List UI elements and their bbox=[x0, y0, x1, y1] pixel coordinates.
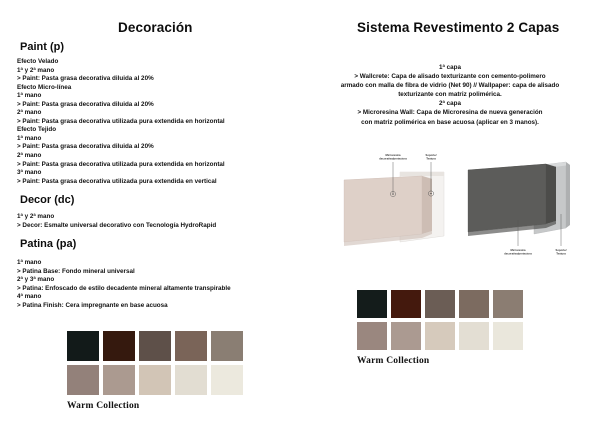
text-line: 4ª mano bbox=[17, 293, 231, 302]
section-heading-patina: Patina (pa) bbox=[20, 238, 76, 250]
color-swatch[interactable] bbox=[67, 365, 99, 395]
right-column-body: 1ª capa > Wallcrete: Capa de alisado tex… bbox=[300, 63, 600, 127]
text-line: > Patina Base: Fondo mineral universal bbox=[17, 268, 231, 277]
text-line: > Paint: Pasta grasa decorativa diluida … bbox=[17, 101, 225, 110]
text-line: con matriz polimérica en base acuosa (ap… bbox=[300, 118, 600, 127]
panel-dark-label-support-2: Textura bbox=[556, 251, 566, 255]
text-line: Efecto Micro-línea bbox=[17, 84, 225, 93]
text-line: texturizante con matriz polimérica. bbox=[300, 90, 600, 99]
section-heading-decor: Decor (dc) bbox=[20, 194, 74, 206]
color-swatch[interactable] bbox=[139, 331, 171, 361]
palette-row bbox=[67, 365, 243, 395]
text-line: 1ª y 2ª mano bbox=[17, 67, 225, 76]
color-swatch[interactable] bbox=[391, 322, 421, 350]
text-line: > Patina Finish: Cera impregnante en bas… bbox=[17, 302, 231, 311]
panel-light-label-layer-2: decorativa/protectora bbox=[379, 156, 407, 160]
palette-row bbox=[357, 322, 523, 350]
text-line: > Paint: Pasta grasa decorativa diluida … bbox=[17, 143, 225, 152]
text-line: 1ª capa bbox=[300, 63, 600, 72]
text-line: > Decor: Esmalte universal decorativo co… bbox=[17, 222, 216, 231]
color-swatch[interactable] bbox=[459, 290, 489, 318]
panel-light-label-layer: Microresina bbox=[385, 153, 401, 157]
panel-illustration-light: Microresina decorativa/protectora Soport… bbox=[340, 150, 465, 250]
text-line: > Microresina Wall: Capa de Microresina … bbox=[300, 108, 600, 117]
color-swatch[interactable] bbox=[425, 290, 455, 318]
section-body-decor: 1ª y 2ª mano > Decor: Esmalte universal … bbox=[17, 213, 216, 230]
text-line: 1ª mano bbox=[17, 259, 231, 268]
color-palette-left: Warm Collection bbox=[67, 331, 243, 411]
section-heading-paint: Paint (p) bbox=[20, 41, 64, 53]
color-swatch[interactable] bbox=[175, 365, 207, 395]
color-swatch[interactable] bbox=[357, 290, 387, 318]
text-line: 1ª y 2ª mano bbox=[17, 213, 216, 222]
poster-canvas: Decoración Paint (p) Efecto Velado 1ª y … bbox=[0, 0, 600, 424]
text-line: > Wallcrete: Capa de alisado texturizant… bbox=[300, 72, 600, 81]
color-swatch[interactable] bbox=[103, 365, 135, 395]
text-line: > Paint: Pasta grasa decorativa utilizad… bbox=[17, 161, 225, 170]
color-swatch[interactable] bbox=[211, 365, 243, 395]
text-line: > Paint: Pasta grasa decorativa utilizad… bbox=[17, 178, 225, 187]
right-column-title: Sistema Revestimento 2 Capas bbox=[357, 20, 559, 35]
text-line: Efecto Tejido bbox=[17, 126, 225, 135]
text-line: 2ª capa bbox=[300, 99, 600, 108]
text-line: Efecto Velado bbox=[17, 58, 225, 67]
color-swatch[interactable] bbox=[493, 322, 523, 350]
text-line: 1ª mano bbox=[17, 92, 225, 101]
color-swatch[interactable] bbox=[139, 365, 171, 395]
text-line: 3ª mano bbox=[17, 169, 225, 178]
panel-dark-label-support: Soporte/ bbox=[556, 248, 567, 252]
color-swatch[interactable] bbox=[103, 331, 135, 361]
palette-row bbox=[357, 290, 523, 318]
color-swatch[interactable] bbox=[425, 322, 455, 350]
palette-caption: Warm Collection bbox=[357, 356, 523, 366]
color-swatch[interactable] bbox=[175, 331, 207, 361]
panel-illustration-dark: Microresina decorativa/protectora Soport… bbox=[462, 158, 590, 263]
panel-dark-label-layer: Microresina bbox=[510, 248, 526, 252]
text-line: > Patina: Enfoscado de estilo decadente … bbox=[17, 285, 231, 294]
color-swatch[interactable] bbox=[459, 322, 489, 350]
palette-row bbox=[67, 331, 243, 361]
panel-dark-label-layer-2: decorativa/protectora bbox=[504, 251, 532, 255]
text-line: > Paint: Pasta grasa decorativa diluida … bbox=[17, 75, 225, 84]
panel-light-label-support: Soporte/ bbox=[426, 153, 437, 157]
palette-caption: Warm Collection bbox=[67, 401, 243, 411]
text-line: armado con malla de fibra de vidrio (Net… bbox=[300, 81, 600, 90]
color-swatch[interactable] bbox=[493, 290, 523, 318]
section-body-patina: 1ª mano > Patina Base: Fondo mineral uni… bbox=[17, 259, 231, 310]
left-column-title: Decoración bbox=[118, 20, 193, 35]
section-body-paint: Efecto Velado 1ª y 2ª mano > Paint: Past… bbox=[17, 58, 225, 186]
color-swatch[interactable] bbox=[67, 331, 99, 361]
text-line: 2ª mano bbox=[17, 109, 225, 118]
color-swatch[interactable] bbox=[211, 331, 243, 361]
text-line: 2ª mano bbox=[17, 152, 225, 161]
text-line: > Paint: Pasta grasa decorativa utilizad… bbox=[17, 118, 225, 127]
text-line: 2ª y 3ª mano bbox=[17, 276, 231, 285]
color-swatch[interactable] bbox=[391, 290, 421, 318]
color-palette-right: Warm Collection bbox=[357, 290, 523, 366]
panel-light-label-support-2: Textura bbox=[426, 156, 436, 160]
text-line: 1ª mano bbox=[17, 135, 225, 144]
color-swatch[interactable] bbox=[357, 322, 387, 350]
